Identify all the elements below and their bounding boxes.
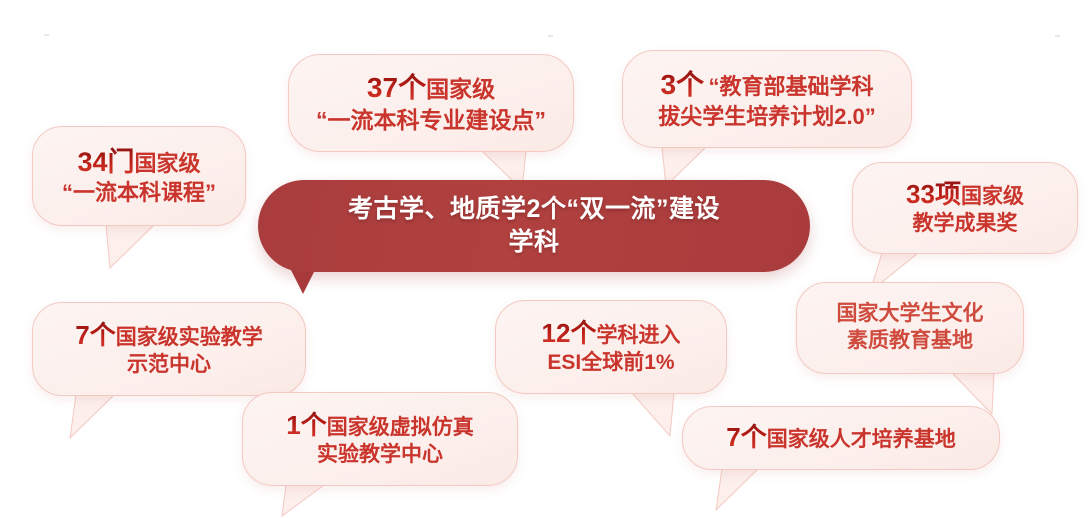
central-banner-line2: 学科	[508, 228, 559, 256]
bubble-line-2: 拔尖学生培养计划2.0”	[658, 103, 876, 131]
decorative-speck	[44, 34, 49, 36]
bubble-number: 3个	[660, 69, 704, 100]
decorative-speck	[1055, 35, 1060, 37]
bubble-wenhua-suzhi-jiaoyu-jidi: 国家大学生文化 素质教育基地	[796, 282, 1024, 374]
bubble-number: 12个	[542, 318, 597, 348]
bubble-line-1: 12个学科进入	[542, 317, 681, 350]
bubble-line-1: 33项国家级	[906, 178, 1024, 211]
central-banner-text: 考古学、地质学2个“双一流”建设 学科	[322, 193, 746, 259]
bubble-line-1: 37个国家级	[316, 70, 546, 106]
bubble-jiaoxue-chengguo-jiang: 33项国家级 教学成果奖	[852, 162, 1078, 254]
bubble-line-1: 国家大学生文化	[837, 301, 984, 328]
bubble-line-2: “一流本科专业建设点”	[316, 106, 546, 135]
bubble-lead: 国家级人才培养基地	[767, 428, 956, 451]
bubble-line-2: 教学成果奖	[906, 211, 1024, 238]
bubble-line-2: ESI全球前1%	[542, 350, 681, 377]
bubble-tail-esi-quanqiu-qian1	[630, 392, 690, 438]
central-banner: 考古学、地质学2个“双一流”建设 学科	[258, 180, 810, 272]
bubble-line-1: 1个国家级虚拟仿真	[286, 409, 473, 442]
bubble-number: 34门	[77, 147, 134, 177]
central-banner-line1: 考古学、地质学2个“双一流”建设	[348, 195, 720, 223]
bubble-tail-shiyan-jiaoxue-shifan-zhongxin	[58, 394, 118, 440]
bubble-line-1: 34门国家级	[62, 145, 216, 180]
bubble-lead: 国家级	[426, 76, 495, 102]
bubble-line-1: 7个国家级实验教学	[75, 319, 262, 352]
bubble-line-2: 示范中心	[75, 352, 262, 379]
bubble-tail-yiliu-benke-kecheng	[104, 224, 164, 270]
bubble-line-1: 3个 “教育部基础学科	[658, 67, 876, 103]
bubble-number: 37个	[367, 72, 426, 103]
bubble-tail-xuni-fangzhen-shiyan-zhongxin	[268, 484, 328, 518]
bubble-number: 1个	[286, 410, 326, 440]
infographic-canvas: 考古学、地质学2个“双一流”建设 学科 34门国家级 “一流本科课程” 37个国…	[0, 0, 1090, 515]
bubble-xuni-fangzhen-shiyan-zhongxin: 1个国家级虚拟仿真 实验教学中心	[242, 392, 518, 486]
bubble-yiliu-benke-zhuanye: 37个国家级 “一流本科专业建设点”	[288, 54, 574, 152]
bubble-number: 33项	[906, 179, 961, 209]
bubble-shiyan-jiaoxue-shifan-zhongxin: 7个国家级实验教学 示范中心	[32, 302, 306, 396]
bubble-line-1: 7个国家级人才培养基地	[726, 421, 955, 454]
bubble-lead: “教育部基础学科	[709, 74, 874, 99]
bubble-line-2: 实验教学中心	[286, 442, 473, 469]
bubble-rencai-peiyang-jidi: 7个国家级人才培养基地	[682, 406, 1000, 470]
bubble-esi-quanqiu-qian1: 12个学科进入 ESI全球前1%	[495, 300, 727, 394]
bubble-lead: 学科进入	[596, 324, 680, 347]
bubble-line-2: 素质教育基地	[837, 328, 984, 355]
bubble-lead: 国家级	[961, 185, 1024, 208]
bubble-lead: 国家级实验教学	[116, 326, 263, 349]
decorative-speck	[548, 35, 553, 37]
bubble-number: 7个	[726, 422, 766, 452]
bubble-lead: 国家级虚拟仿真	[327, 416, 474, 439]
bubble-yiliu-benke-kecheng: 34门国家级 “一流本科课程”	[32, 126, 246, 226]
bubble-number: 7个	[75, 320, 115, 350]
bubble-tail-rencai-peiyang-jidi	[704, 468, 764, 512]
bubble-line-2: “一流本科课程”	[62, 179, 216, 207]
bubble-bajian-rencai-jihua: 3个 “教育部基础学科 拔尖学生培养计划2.0”	[622, 50, 912, 148]
bubble-lead: 国家级	[135, 151, 201, 176]
